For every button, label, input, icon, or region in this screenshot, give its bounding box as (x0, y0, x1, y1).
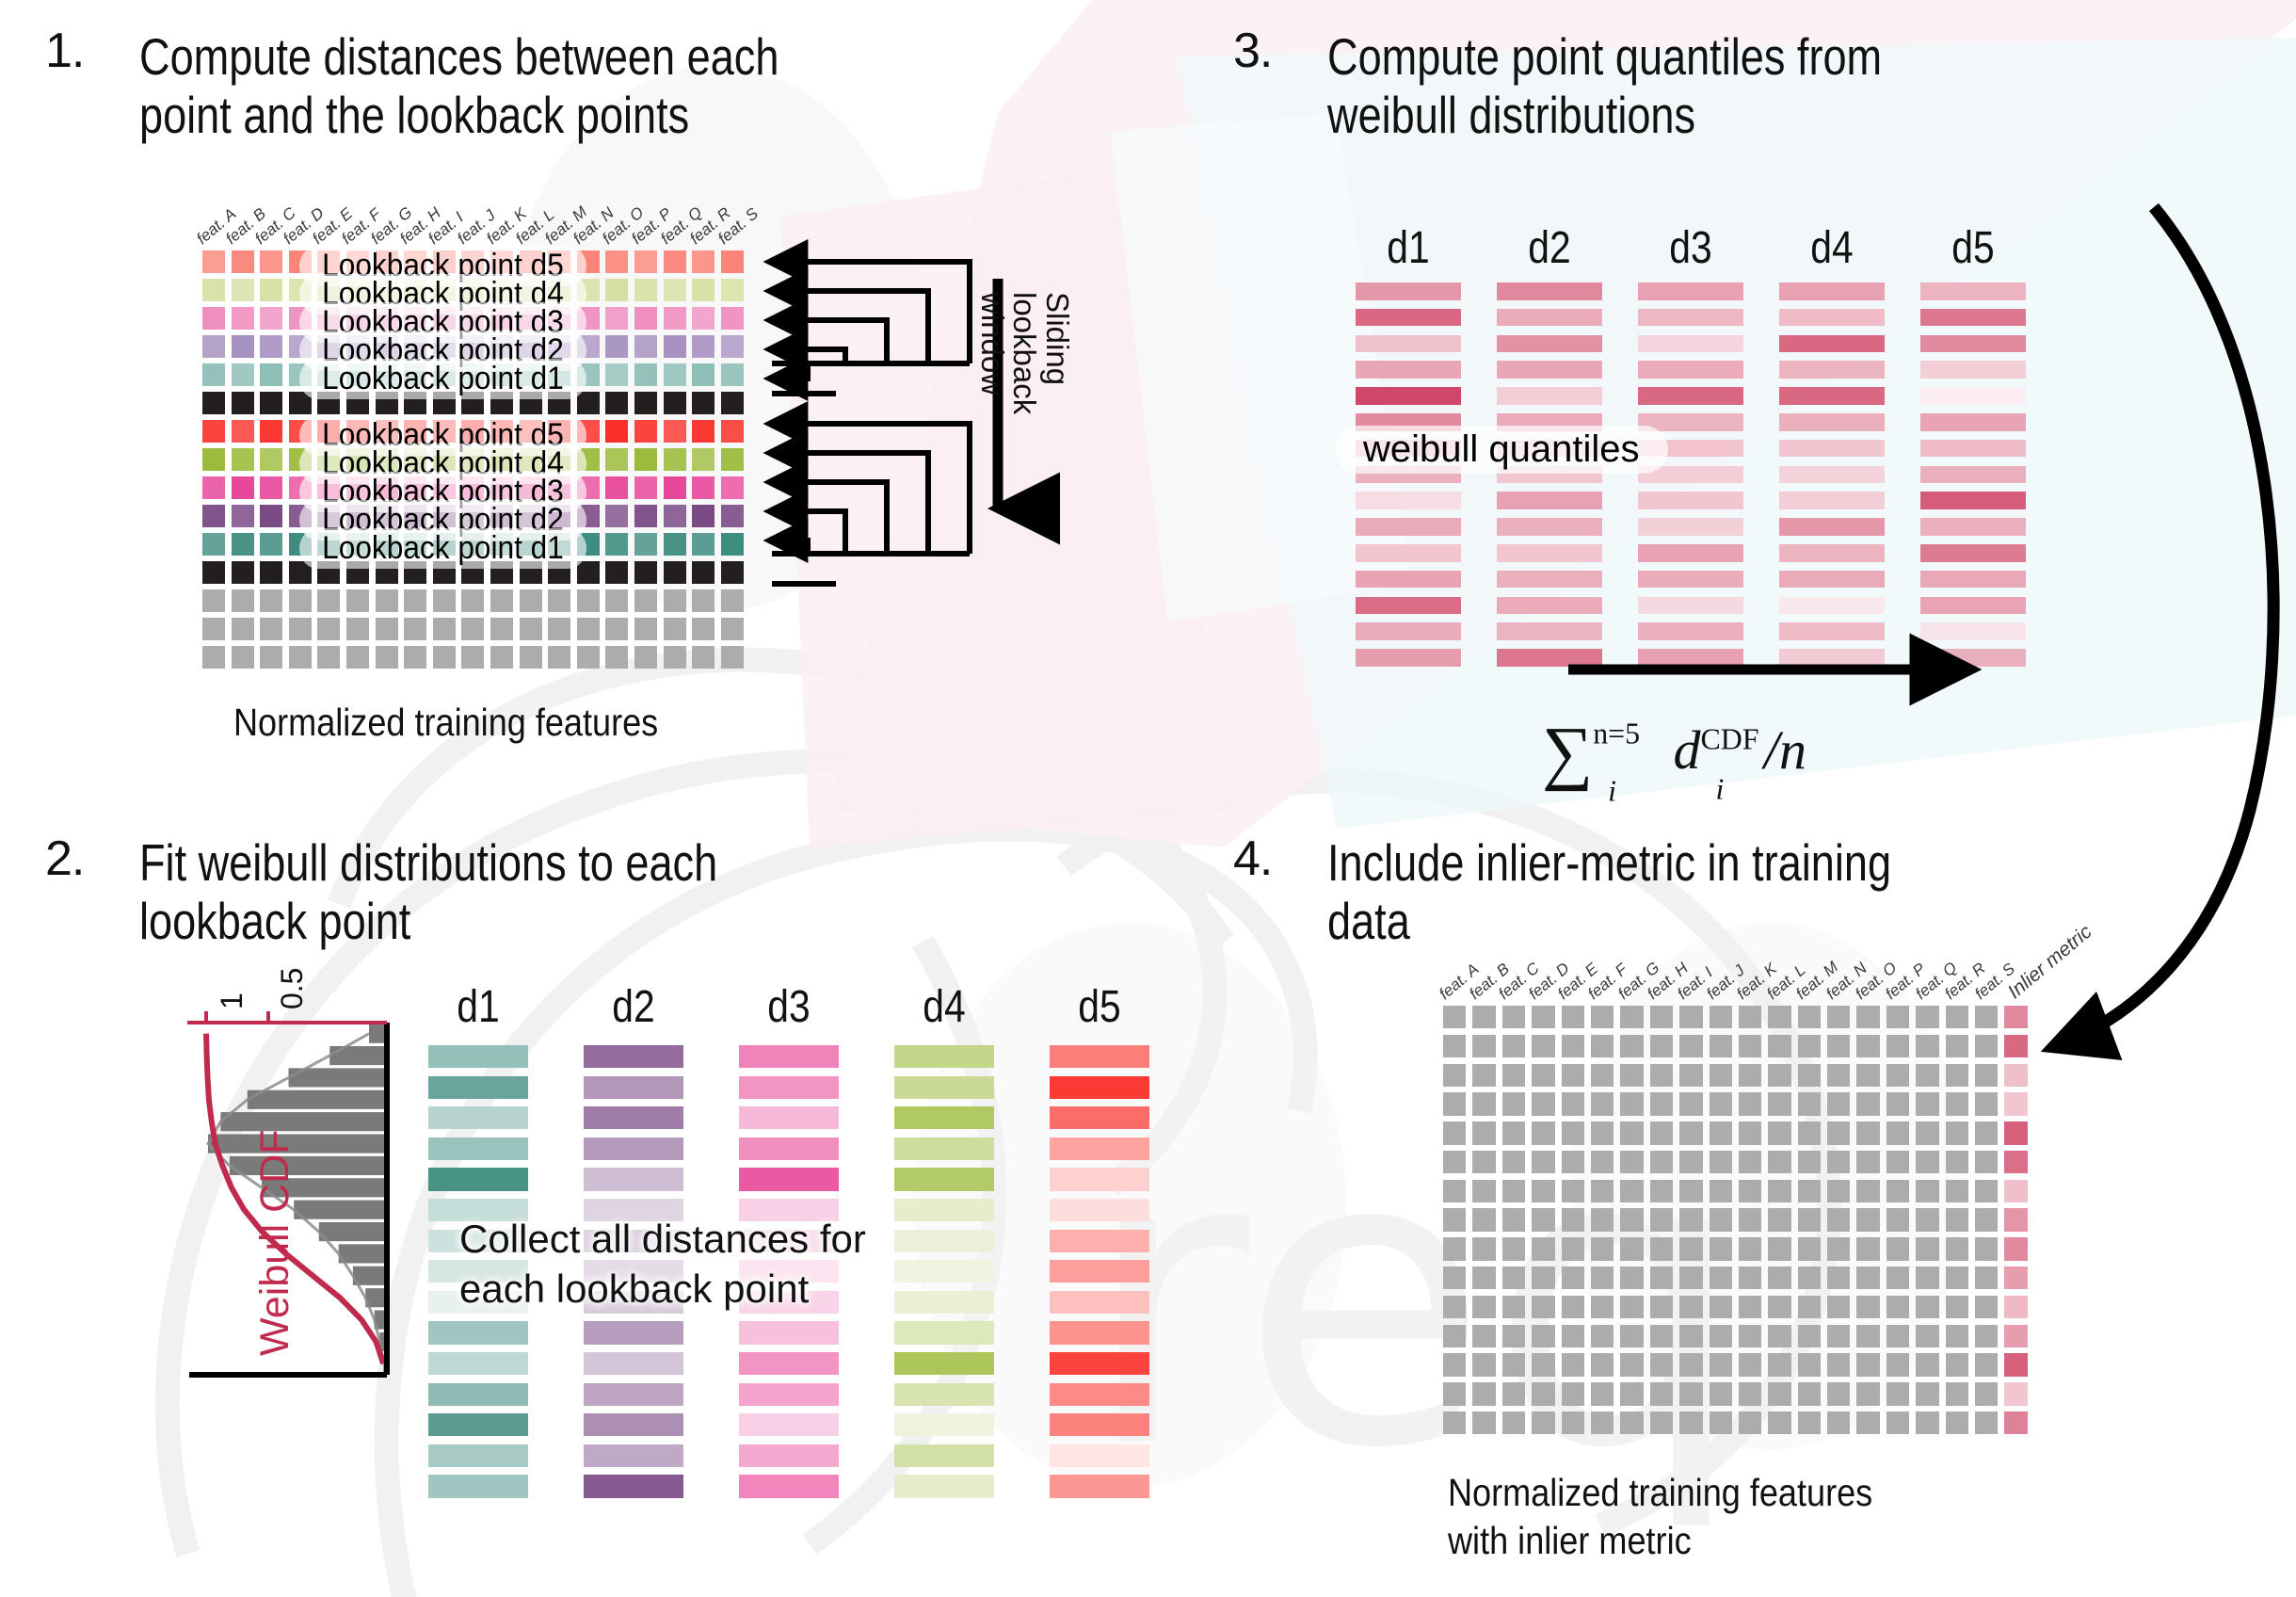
grid-cell (692, 307, 714, 330)
grid-cell (202, 646, 225, 669)
grid-cell (202, 448, 225, 471)
grid-cell (1562, 1353, 1584, 1376)
grid-cell (721, 646, 744, 669)
quantile-column-header: d1 (1363, 222, 1453, 274)
grid-cell (1798, 1411, 1821, 1434)
grid-cell (1679, 1353, 1702, 1376)
quantile-cell (1779, 492, 1885, 509)
grid-cell (721, 279, 744, 301)
distance-cell (739, 1076, 839, 1099)
distance-cell (894, 1444, 994, 1467)
panel1-caption: Normalized training features (233, 699, 813, 747)
grid-cell (260, 279, 282, 301)
grid-cell (404, 646, 426, 669)
grid-cell (1768, 1237, 1790, 1260)
step-2-number: 2. (45, 834, 84, 883)
grid-cell (1620, 1266, 1643, 1289)
grid-cell (1739, 1208, 1761, 1231)
grid-cell (634, 363, 657, 386)
grid-cell (1502, 1035, 1525, 1057)
grid-cell (605, 279, 628, 301)
grid-cell (1827, 1266, 1850, 1289)
panel-1-compute-distances: 1. Compute distances between each point … (0, 0, 1158, 782)
grid-cell (634, 476, 657, 499)
grid-cell (1472, 1121, 1495, 1144)
grid-cell (346, 646, 369, 669)
grid-cell (1798, 1121, 1821, 1144)
grid-cell (1946, 1382, 1968, 1405)
quantile-column (1356, 282, 1461, 675)
distance-cell (584, 1045, 683, 1068)
grid-cell (692, 363, 714, 386)
distance-cell (428, 1076, 528, 1099)
grid-cell (1562, 1382, 1584, 1405)
grid-cell (1472, 1208, 1495, 1231)
grid-cell (346, 589, 369, 612)
grid-cell (317, 589, 340, 612)
distance-cell (584, 1321, 683, 1344)
grid-cell (1679, 1180, 1702, 1202)
grid-cell (346, 618, 369, 640)
grid-cell (1620, 1121, 1643, 1144)
grid-cell (1827, 1325, 1850, 1347)
distance-column-header: d1 (436, 981, 521, 1033)
grid-cell (1591, 1266, 1614, 1289)
grid-cell (1591, 1296, 1614, 1318)
grid-cell (1946, 1064, 1968, 1087)
panel1-feature-labels: feat. Afeat. Bfeat. Cfeat. Dfeat. Efeat.… (205, 194, 761, 249)
formula-body-sub: i (1716, 773, 1725, 806)
grid-cell (1710, 1208, 1732, 1231)
grid-cell (1472, 1266, 1495, 1289)
grid-cell (232, 618, 254, 640)
quantile-column (1638, 282, 1743, 675)
quantile-cell (1779, 544, 1885, 562)
grid-cell (577, 589, 600, 612)
grid-cell (404, 589, 426, 612)
grid-cell (1502, 1092, 1525, 1115)
quantile-cell (1638, 571, 1743, 589)
quantile-cell (1779, 466, 1885, 484)
grid-cell (1739, 1006, 1761, 1028)
grid-cell (1916, 1208, 1938, 1231)
grid-cell (1798, 1353, 1821, 1376)
quantile-cell (1356, 387, 1461, 405)
grid-cell (1562, 1325, 1584, 1347)
grid-cell (634, 533, 657, 556)
grid-cell (1946, 1035, 1968, 1057)
quantile-cell (1356, 518, 1461, 536)
distance-cell (739, 1045, 839, 1068)
grid-cell (1975, 1151, 1998, 1173)
grid-cell (1739, 1237, 1761, 1260)
grid-cell (1798, 1382, 1821, 1405)
distance-cell (428, 1444, 528, 1467)
quantile-cell (1779, 309, 1885, 327)
grid-cell (1650, 1325, 1673, 1347)
grid-cell (1768, 1325, 1790, 1347)
grid-cell (1916, 1064, 1938, 1087)
grid-cell (1650, 1296, 1673, 1318)
distance-cell (584, 1352, 683, 1375)
grid-cell (1620, 1064, 1643, 1087)
grid-cell (1946, 1208, 1968, 1231)
grid-cell (1975, 1121, 1998, 1144)
grid-cell (1856, 1237, 1879, 1260)
distance-cell (894, 1475, 994, 1497)
distance-cell (1050, 1413, 1149, 1436)
grid-cell (634, 250, 657, 273)
grid-cell (605, 476, 628, 499)
grid-cell (260, 618, 282, 640)
grid-cell (1710, 1064, 1732, 1087)
grid-cell (634, 335, 657, 358)
quantile-cell (1356, 492, 1461, 509)
grid-cell (1591, 1092, 1614, 1115)
grid-cell (1887, 1382, 1909, 1405)
grid-cell (605, 250, 628, 273)
grid-cell (232, 363, 254, 386)
quantile-cell (1497, 335, 1602, 353)
grid-cell (692, 279, 714, 301)
quantile-cell (1779, 518, 1885, 536)
grid-cell (1827, 1353, 1850, 1376)
distance-cell (894, 1413, 994, 1436)
grid-cell (1827, 1237, 1850, 1260)
grid-cell (1710, 1180, 1732, 1202)
grid-cell (1768, 1092, 1790, 1115)
grid-cell (1472, 1411, 1495, 1434)
grid-cell (634, 279, 657, 301)
quantile-cell (1638, 282, 1743, 300)
grid-cell (1650, 1266, 1673, 1289)
distance-cell (1050, 1230, 1149, 1252)
grid-cell (232, 476, 254, 499)
grid-cell (202, 561, 225, 584)
grid-cell (664, 392, 686, 414)
grid-cell (1679, 1411, 1702, 1434)
quantile-cell (1638, 518, 1743, 536)
grid-cell (1502, 1180, 1525, 1202)
grid-cell (1472, 1151, 1495, 1173)
grid-cell (577, 618, 600, 640)
grid-cell (1562, 1092, 1584, 1115)
grid-cell (1502, 1296, 1525, 1318)
grid-cell (605, 392, 628, 414)
grid-cell (664, 533, 686, 556)
grid-cell (664, 335, 686, 358)
inlier-metric-cell (2004, 1151, 2027, 1173)
inlier-metric-cell (2004, 1266, 2027, 1289)
quantile-cell (1638, 361, 1743, 379)
grid-cell (1887, 1092, 1909, 1115)
grid-cell (1502, 1325, 1525, 1347)
grid-cell (1562, 1151, 1584, 1173)
grid-cell (1532, 1180, 1554, 1202)
grid-cell (376, 646, 398, 669)
grid-cell (1650, 1382, 1673, 1405)
grid-cell (317, 618, 340, 640)
inlier-metric-cell (2004, 1296, 2027, 1318)
grid-cell (1827, 1180, 1850, 1202)
grid-cell (1591, 1180, 1614, 1202)
grid-cell (634, 307, 657, 330)
inlier-metric-cell (2004, 1208, 2027, 1231)
grid-cell (232, 250, 254, 273)
formula-body-sup: CDF (1700, 723, 1758, 756)
quantile-cell (1497, 387, 1602, 405)
distance-cell (739, 1137, 839, 1160)
formula-lower-limit: i (1608, 775, 1616, 808)
inlier-metric-cell (2004, 1325, 2027, 1347)
grid-cell (1856, 1266, 1879, 1289)
grid-cell (692, 618, 714, 640)
grid-cell (1768, 1035, 1790, 1057)
grid-cell (605, 420, 628, 443)
grid-cell (1887, 1180, 1909, 1202)
distance-cell (739, 1168, 839, 1190)
quantile-column (1497, 282, 1602, 675)
quantile-cell (1638, 309, 1743, 327)
grid-cell (1591, 1382, 1614, 1405)
grid-cell (1798, 1180, 1821, 1202)
grid-cell (490, 589, 513, 612)
grid-cell (1856, 1006, 1879, 1028)
grid-cell (1768, 1353, 1790, 1376)
grid-cell (1591, 1006, 1614, 1028)
grid-cell (1443, 1325, 1466, 1347)
grid-cell (1443, 1121, 1466, 1144)
distance-cell (1050, 1260, 1149, 1282)
grid-cell (1472, 1353, 1495, 1376)
distance-cell (584, 1444, 683, 1467)
grid-cell (1768, 1296, 1790, 1318)
grid-cell (1710, 1353, 1732, 1376)
grid-cell (1532, 1237, 1554, 1260)
grid-cell (1798, 1208, 1821, 1231)
distance-column-header: d3 (747, 981, 831, 1033)
grid-cell (1443, 1296, 1466, 1318)
grid-cell (605, 505, 628, 527)
grid-cell (692, 420, 714, 443)
grid-cell (1856, 1092, 1879, 1115)
quantile-cell (1356, 649, 1461, 667)
grid-cell (1739, 1411, 1761, 1434)
distance-cell (584, 1475, 683, 1497)
grid-cell (1946, 1180, 1968, 1202)
inlier-metric-cell (2004, 1180, 2027, 1202)
quantile-cell (1356, 597, 1461, 615)
grid-cell (433, 646, 456, 669)
distance-cell (1050, 1444, 1149, 1467)
distance-cell (894, 1291, 994, 1314)
grid-cell (1679, 1151, 1702, 1173)
distance-cell (894, 1352, 994, 1375)
formula-divide: /n (1764, 719, 1806, 781)
grid-cell (1679, 1382, 1702, 1405)
inlier-metric-cell (2004, 1121, 2027, 1144)
grid-cell (433, 589, 456, 612)
grid-cell (1562, 1208, 1584, 1231)
grid-cell (1827, 1035, 1850, 1057)
grid-cell (1739, 1325, 1761, 1347)
grid-cell (1887, 1325, 1909, 1347)
grid-cell (520, 646, 542, 669)
grid-cell (1502, 1064, 1525, 1087)
grid-cell (1502, 1411, 1525, 1434)
cdf-ytick-1: 1 (215, 992, 249, 1009)
grid-cell (1562, 1006, 1584, 1028)
grid-cell (1472, 1006, 1495, 1028)
grid-cell (1650, 1092, 1673, 1115)
cdf-ytick-05: 0.5 (275, 968, 310, 1009)
grid-cell (692, 505, 714, 527)
grid-cell (1650, 1151, 1673, 1173)
distance-cell (584, 1106, 683, 1129)
grid-cell (232, 392, 254, 414)
grid-cell (1443, 1151, 1466, 1173)
quantile-cell (1497, 622, 1602, 640)
formula-upper-limit: n=5 (1593, 718, 1640, 750)
grid-cell (1975, 1353, 1998, 1376)
grid-cell (260, 505, 282, 527)
distance-cell (894, 1168, 994, 1190)
grid-cell (1739, 1092, 1761, 1115)
grid-cell (433, 618, 456, 640)
grid-cell (634, 420, 657, 443)
grid-cell (1856, 1353, 1879, 1376)
distance-cell (428, 1137, 528, 1160)
step-3-number: 3. (1233, 26, 1272, 75)
quantile-cell (1638, 544, 1743, 562)
grid-cell (1768, 1411, 1790, 1434)
distance-column-header: d5 (1057, 981, 1142, 1033)
grid-cell (1443, 1035, 1466, 1057)
grid-cell (1532, 1296, 1554, 1318)
grid-cell (1739, 1266, 1761, 1289)
distance-cell (894, 1045, 994, 1068)
grid-cell (1887, 1064, 1909, 1087)
grid-cell (1827, 1151, 1850, 1173)
grid-cell (232, 589, 254, 612)
grid-cell (1887, 1296, 1909, 1318)
grid-cell (1916, 1092, 1938, 1115)
grid-cell (1532, 1121, 1554, 1144)
grid-cell (605, 307, 628, 330)
quantile-column-header: d3 (1646, 222, 1735, 274)
grid-cell (1946, 1325, 1968, 1347)
grid-cell (1856, 1151, 1879, 1173)
inlier-metric-cell (2004, 1237, 2027, 1260)
grid-cell (260, 561, 282, 584)
grid-cell (721, 561, 744, 584)
quantile-cell (1497, 597, 1602, 615)
grid-cell (1916, 1353, 1938, 1376)
grid-cell (376, 618, 398, 640)
grid-cell (548, 589, 570, 612)
grid-cell (1827, 1382, 1850, 1405)
grid-cell (1679, 1006, 1702, 1028)
grid-cell (1768, 1208, 1790, 1231)
grid-cell (1739, 1382, 1761, 1405)
distance-cell (739, 1352, 839, 1375)
grid-cell (1620, 1353, 1643, 1376)
grid-cell (664, 279, 686, 301)
grid-cell (1591, 1353, 1614, 1376)
grid-cell (1827, 1064, 1850, 1087)
grid-cell (1472, 1382, 1495, 1405)
grid-cell (692, 533, 714, 556)
grid-cell (232, 533, 254, 556)
grid-cell (1679, 1266, 1702, 1289)
quantile-cell (1779, 440, 1885, 458)
grid-cell (1532, 1064, 1554, 1087)
quantile-cell (1779, 387, 1885, 405)
grid-cell (1916, 1006, 1938, 1028)
grid-cell (1532, 1266, 1554, 1289)
quantile-cell (1779, 571, 1885, 589)
grid-cell (1562, 1411, 1584, 1434)
grid-cell (260, 646, 282, 669)
grid-cell (260, 335, 282, 358)
grid-cell (1443, 1208, 1466, 1231)
grid-cell (1739, 1180, 1761, 1202)
grid-cell (1798, 1237, 1821, 1260)
grid-cell (1887, 1266, 1909, 1289)
grid-cell (721, 335, 744, 358)
distance-column (894, 1045, 994, 1506)
quantile-cell (1497, 571, 1602, 589)
quantile-cell (1638, 622, 1743, 640)
grid-cell (577, 392, 600, 414)
grid-cell (1679, 1121, 1702, 1144)
grid-cell (202, 618, 225, 640)
step-1-title: Compute distances between each point and… (139, 28, 1027, 144)
grid-cell (1562, 1237, 1584, 1260)
grid-cell (577, 646, 600, 669)
grid-cell (232, 505, 254, 527)
grid-cell (317, 646, 340, 669)
grid-cell (232, 279, 254, 301)
quantile-column (1779, 282, 1885, 675)
grid-cell (605, 533, 628, 556)
quantile-cell (1356, 309, 1461, 327)
grid-cell (1532, 1208, 1554, 1231)
distance-cell (1050, 1199, 1149, 1221)
quantile-cell (1356, 544, 1461, 562)
grid-cell (664, 420, 686, 443)
grid-cell (1856, 1035, 1879, 1057)
grid-cell (1620, 1151, 1643, 1173)
grid-cell (1443, 1382, 1466, 1405)
grid-cell (1650, 1411, 1673, 1434)
distance-cell (428, 1383, 528, 1406)
grid-cell (1710, 1411, 1732, 1434)
grid-cell (692, 448, 714, 471)
distance-cell (428, 1413, 528, 1436)
distance-cell (1050, 1352, 1149, 1375)
grid-cell (1798, 1064, 1821, 1087)
panel4-feature-labels: feat. Afeat. Bfeat. Cfeat. Dfeat. Efeat.… (1448, 949, 2050, 1004)
grid-cell (1591, 1208, 1614, 1231)
grid-cell (1768, 1121, 1790, 1144)
weibull-cdf-axis-label: Weibull CDF (252, 1129, 298, 1356)
grid-cell (1798, 1296, 1821, 1318)
grid-cell (1768, 1266, 1790, 1289)
grid-cell (1710, 1006, 1732, 1028)
quantile-cell (1497, 518, 1602, 536)
grid-cell (605, 646, 628, 669)
